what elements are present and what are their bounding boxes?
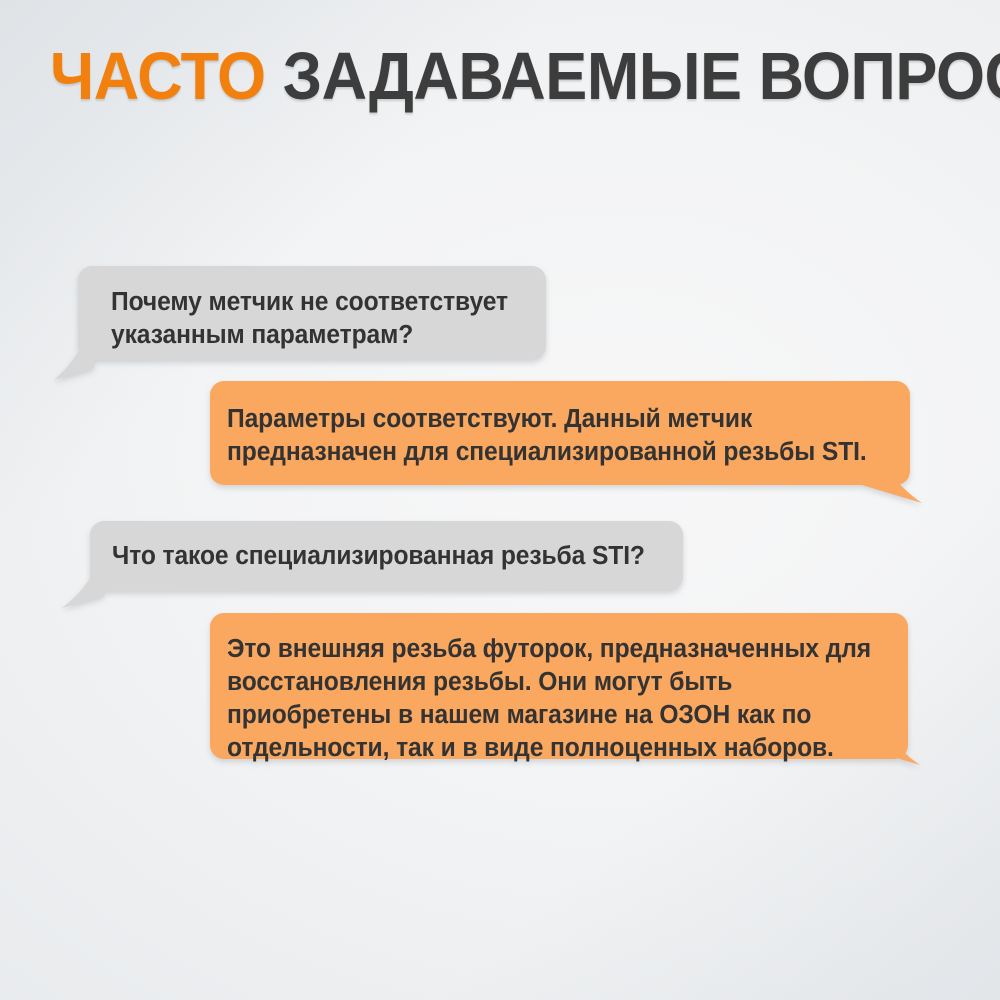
chat-bubble-answer-2: Это внешняя резьба футорок, предназначен… (210, 613, 908, 759)
bubble-tail-left-icon (54, 324, 94, 380)
chat-bubble-text: Это внешняя резьба футорок, предназначен… (227, 633, 893, 765)
chat-bubble-text: Параметры соответствуют. Данный метчик п… (227, 403, 893, 469)
chat-bubble-text: Почему метчик не соответствует указанным… (111, 286, 526, 352)
chat-bubble-answer-1: Параметры соответствуют. Данный метчик п… (210, 381, 910, 485)
bubble-tail-left-icon (62, 556, 104, 608)
page-title-rest: ЗАДАВАЕМЫЕ ВОПРОСЫ (283, 39, 1000, 114)
page-title-accent: ЧАСТО (50, 39, 266, 114)
chat-bubble-text: Что такое специализированная резьба STI? (112, 540, 662, 573)
chat-bubble-question-2: Что такое специализированная резьба STI? (90, 521, 683, 591)
background-vignette (0, 0, 1000, 1000)
chat-bubble-question-1: Почему метчик не соответствует указанным… (78, 266, 546, 360)
page-title: ЧАСТО ЗАДАВАЕМЫЕ ВОПРОСЫ (50, 41, 905, 113)
